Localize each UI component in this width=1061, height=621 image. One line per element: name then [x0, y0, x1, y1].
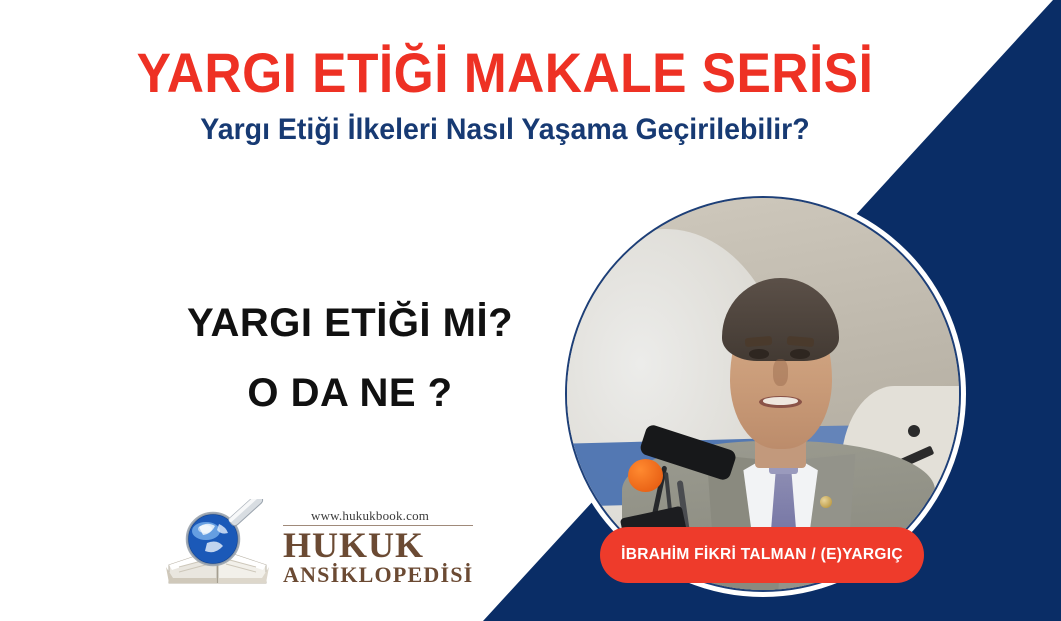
poster-canvas: YARGI ETİĞİ MAKALE SERİSİ Yargı Etiği İl…: [0, 0, 1061, 621]
logo-name-secondary: ANSİKLOPEDİSİ: [283, 563, 473, 586]
headline-block: YARGI ETİĞİ MAKALE SERİSİ Yargı Etiği İl…: [0, 44, 1010, 147]
question-line-2: O DA NE ?: [150, 370, 550, 416]
logo-website-url: www.hukukbook.com: [283, 508, 473, 524]
logo-name-primary: HUKUK: [283, 528, 473, 562]
photo-eye-right: [790, 349, 810, 358]
hukukbook-logo[interactable]: www.hukukbook.com HUKUK ANSİKLOPEDİSİ: [163, 497, 423, 593]
photo-lapel-pin: [820, 496, 832, 508]
photo-microphone-windscreen: [628, 459, 663, 492]
question-block: YARGI ETİĞİ Mİ? O DA NE ?: [150, 300, 550, 416]
page-subtitle: Yargı Etiği İlkeleri Nasıl Yaşama Geçiri…: [25, 113, 985, 147]
photo-teeth: [763, 397, 798, 404]
page-title: YARGI ETİĞİ MAKALE SERİSİ: [40, 44, 969, 102]
photo-nose: [773, 359, 789, 386]
photo-eye-left: [749, 349, 769, 358]
question-line-1: YARGI ETİĞİ Mİ?: [150, 300, 550, 346]
logo-textblock: www.hukukbook.com HUKUK ANSİKLOPEDİSİ: [283, 504, 473, 586]
speaker-name-label: İBRAHİM FİKRİ TALMAN / (E)YARGIÇ: [621, 546, 903, 564]
logo-divider: [283, 525, 473, 526]
speaker-name-badge: İBRAHİM FİKRİ TALMAN / (E)YARGIÇ: [600, 527, 924, 583]
open-book-globe-magnifier-icon: [163, 499, 281, 591]
